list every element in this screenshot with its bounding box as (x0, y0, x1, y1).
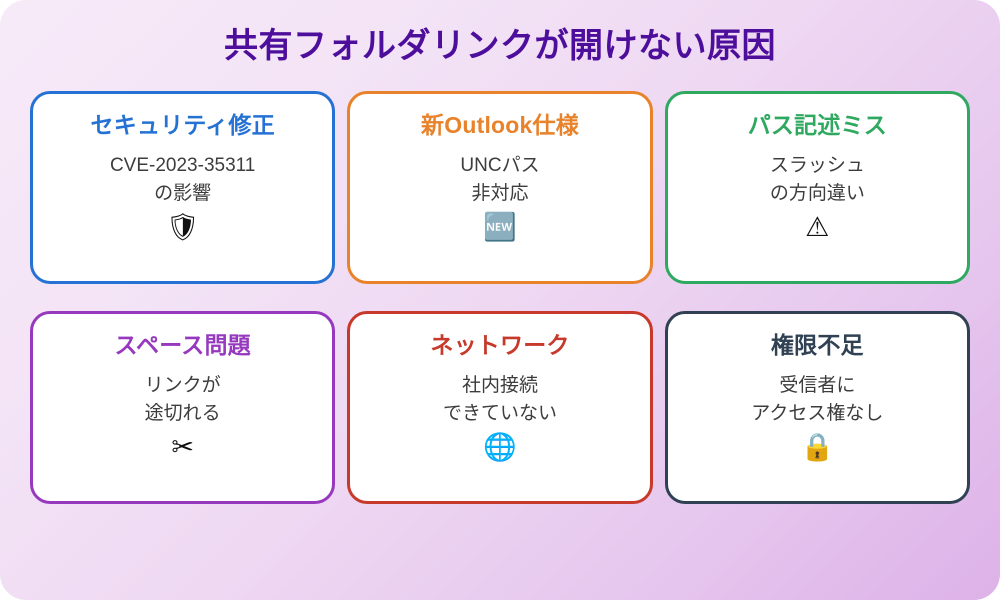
cause-card-security-fix[interactable]: セキュリティ修正 CVE-2023-35311 の影響 🛡 (30, 91, 335, 284)
cause-card-line-1: スラッシュ (770, 152, 865, 180)
page-title: 共有フォルダリンクが開けない原因 (224, 0, 776, 67)
shield-icon: 🛡 (166, 214, 200, 241)
cause-card-title: セキュリティ修正 (91, 112, 275, 138)
cause-card-line-1: CVE-2023-35311 (110, 152, 255, 180)
cause-card-body: スラッシュ の方向違い (770, 152, 865, 207)
cause-card-title: 権限不足 (771, 332, 864, 358)
cause-card-line-2: 非対応 (460, 180, 539, 208)
cause-card-line-1: UNCパス (460, 152, 539, 180)
cause-card-body: 受信者に アクセス権なし (751, 372, 883, 427)
cause-card-line-1: リンクが (145, 372, 221, 400)
cause-card-line-1: 受信者に (751, 372, 883, 400)
cause-card-line-2: 途切れる (145, 400, 221, 428)
cause-card-line-1: 社内接続 (443, 372, 557, 400)
cause-card-insufficient-permission[interactable]: 権限不足 受信者に アクセス権なし 🔒 (665, 311, 970, 504)
cause-card-title: 新Outlook仕様 (421, 112, 579, 138)
cause-card-body: 社内接続 できていない (443, 372, 557, 427)
globe-icon: 🌐 (483, 434, 517, 461)
cause-card-line-2: の影響 (110, 180, 255, 208)
cause-card-line-2: アクセス権なし (751, 400, 883, 428)
new-badge-icon: 🆕 (483, 214, 517, 241)
warning-triangle-icon: ⚠ (805, 214, 829, 241)
cause-card-space-problem[interactable]: スペース問題 リンクが 途切れる ✂ (30, 311, 335, 504)
cause-card-network[interactable]: ネットワーク 社内接続 できていない 🌐 (347, 311, 652, 504)
cause-card-title: パス記述ミス (748, 112, 887, 138)
cause-card-line-2: できていない (443, 400, 557, 428)
cause-card-line-2: の方向違い (770, 180, 865, 208)
cause-card-grid: セキュリティ修正 CVE-2023-35311 の影響 🛡 新Outlook仕様… (30, 91, 970, 504)
cause-card-title: スペース問題 (114, 332, 250, 358)
cause-card-body: リンクが 途切れる (145, 372, 221, 427)
cause-card-title: ネットワーク (430, 332, 569, 358)
cause-card-new-outlook-spec[interactable]: 新Outlook仕様 UNCパス 非対応 🆕 (347, 91, 652, 284)
scissors-icon: ✂ (171, 434, 194, 461)
cause-card-body: CVE-2023-35311 の影響 (110, 152, 255, 207)
cause-card-path-notation-mistake[interactable]: パス記述ミス スラッシュ の方向違い ⚠ (665, 91, 970, 284)
poster-root: 共有フォルダリンクが開けない原因 セキュリティ修正 CVE-2023-35311… (0, 0, 1000, 600)
lock-icon: 🔒 (801, 434, 835, 461)
cause-card-body: UNCパス 非対応 (460, 152, 539, 207)
